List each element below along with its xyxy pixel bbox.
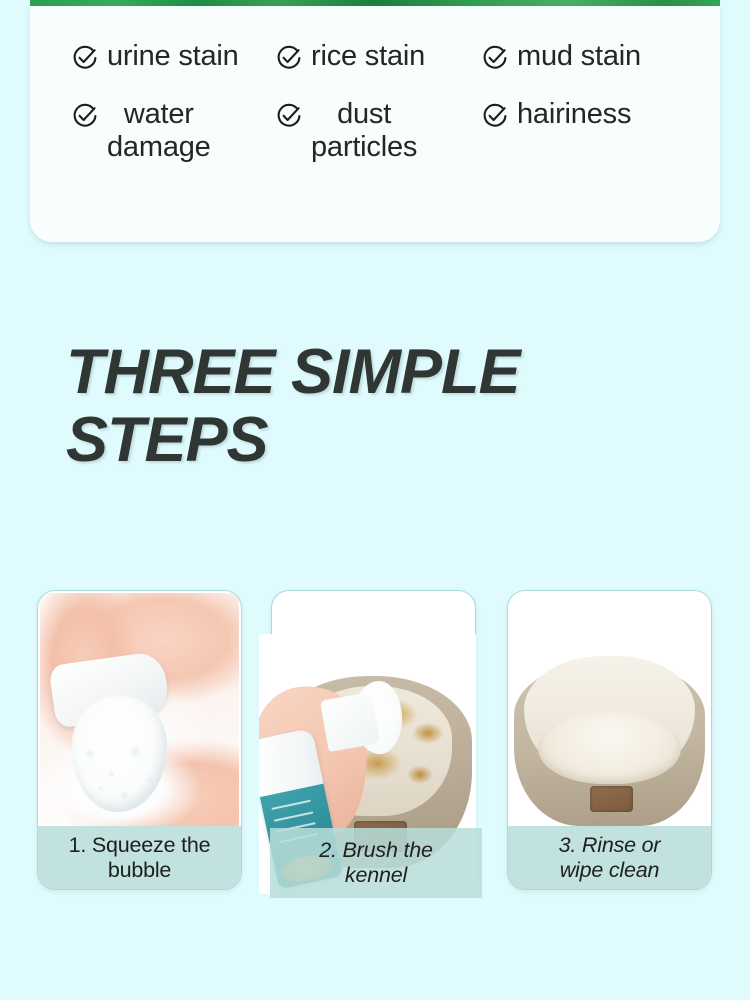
feature-item-label: rice stain (311, 40, 425, 72)
feature-item-dust-particles: dust particles (270, 98, 470, 163)
feature-item-water-damage: water damage (30, 98, 270, 163)
feature-item-label: hairiness (517, 98, 631, 130)
clean-pet-bed-photo (510, 593, 709, 826)
pet-bed-brand-tag (590, 786, 634, 812)
step-card-1-frame: 1. Squeeze the bubble (37, 590, 242, 890)
step-card-2: 2. Brush the kennel (271, 590, 476, 890)
step-card-3: 3. Rinse or wipe clean (507, 590, 712, 890)
feature-checklist-grid: urine stain rice stain mud stain (30, 40, 720, 163)
step-caption-2: 2. Brush the kennel (270, 828, 482, 898)
feature-checklist-card: urine stain rice stain mud stain (30, 6, 720, 242)
check-circle-icon (482, 45, 508, 71)
step-card-1: 1. Squeeze the bubble (37, 590, 242, 890)
step-card-3-frame: 3. Rinse or wipe clean (507, 590, 712, 890)
check-circle-icon (482, 103, 508, 129)
check-circle-icon (72, 103, 98, 129)
feature-item-label: mud stain (517, 40, 641, 72)
step-caption-3-text: 3. Rinse or wipe clean (555, 833, 665, 883)
section-headline: THREE SIMPLE STEPS (66, 338, 666, 474)
step-caption-1-text: 1. Squeeze the bubble (65, 833, 215, 883)
check-circle-icon (276, 103, 302, 129)
step-caption-3: 3. Rinse or wipe clean (508, 826, 711, 889)
hands-with-foam-photo (40, 593, 239, 826)
check-circle-icon (72, 45, 98, 71)
step-caption-2-text: 2. Brush the kennel (315, 838, 437, 888)
pet-bed-cushion-shape (538, 710, 681, 785)
feature-item-label: dust particles (311, 98, 417, 163)
feature-item-urine-stain: urine stain (30, 40, 270, 72)
feature-item-label: urine stain (107, 40, 239, 72)
feature-item-label: water damage (107, 98, 211, 163)
check-circle-icon (276, 45, 302, 71)
feature-item-rice-stain: rice stain (270, 40, 470, 72)
foam-bubbles-shape (68, 728, 177, 812)
steps-row: 1. Squeeze the bubble (0, 590, 750, 910)
feature-item-mud-stain: mud stain (470, 40, 720, 72)
feature-item-hairiness: hairiness (470, 98, 720, 163)
step-caption-1: 1. Squeeze the bubble (38, 826, 241, 889)
